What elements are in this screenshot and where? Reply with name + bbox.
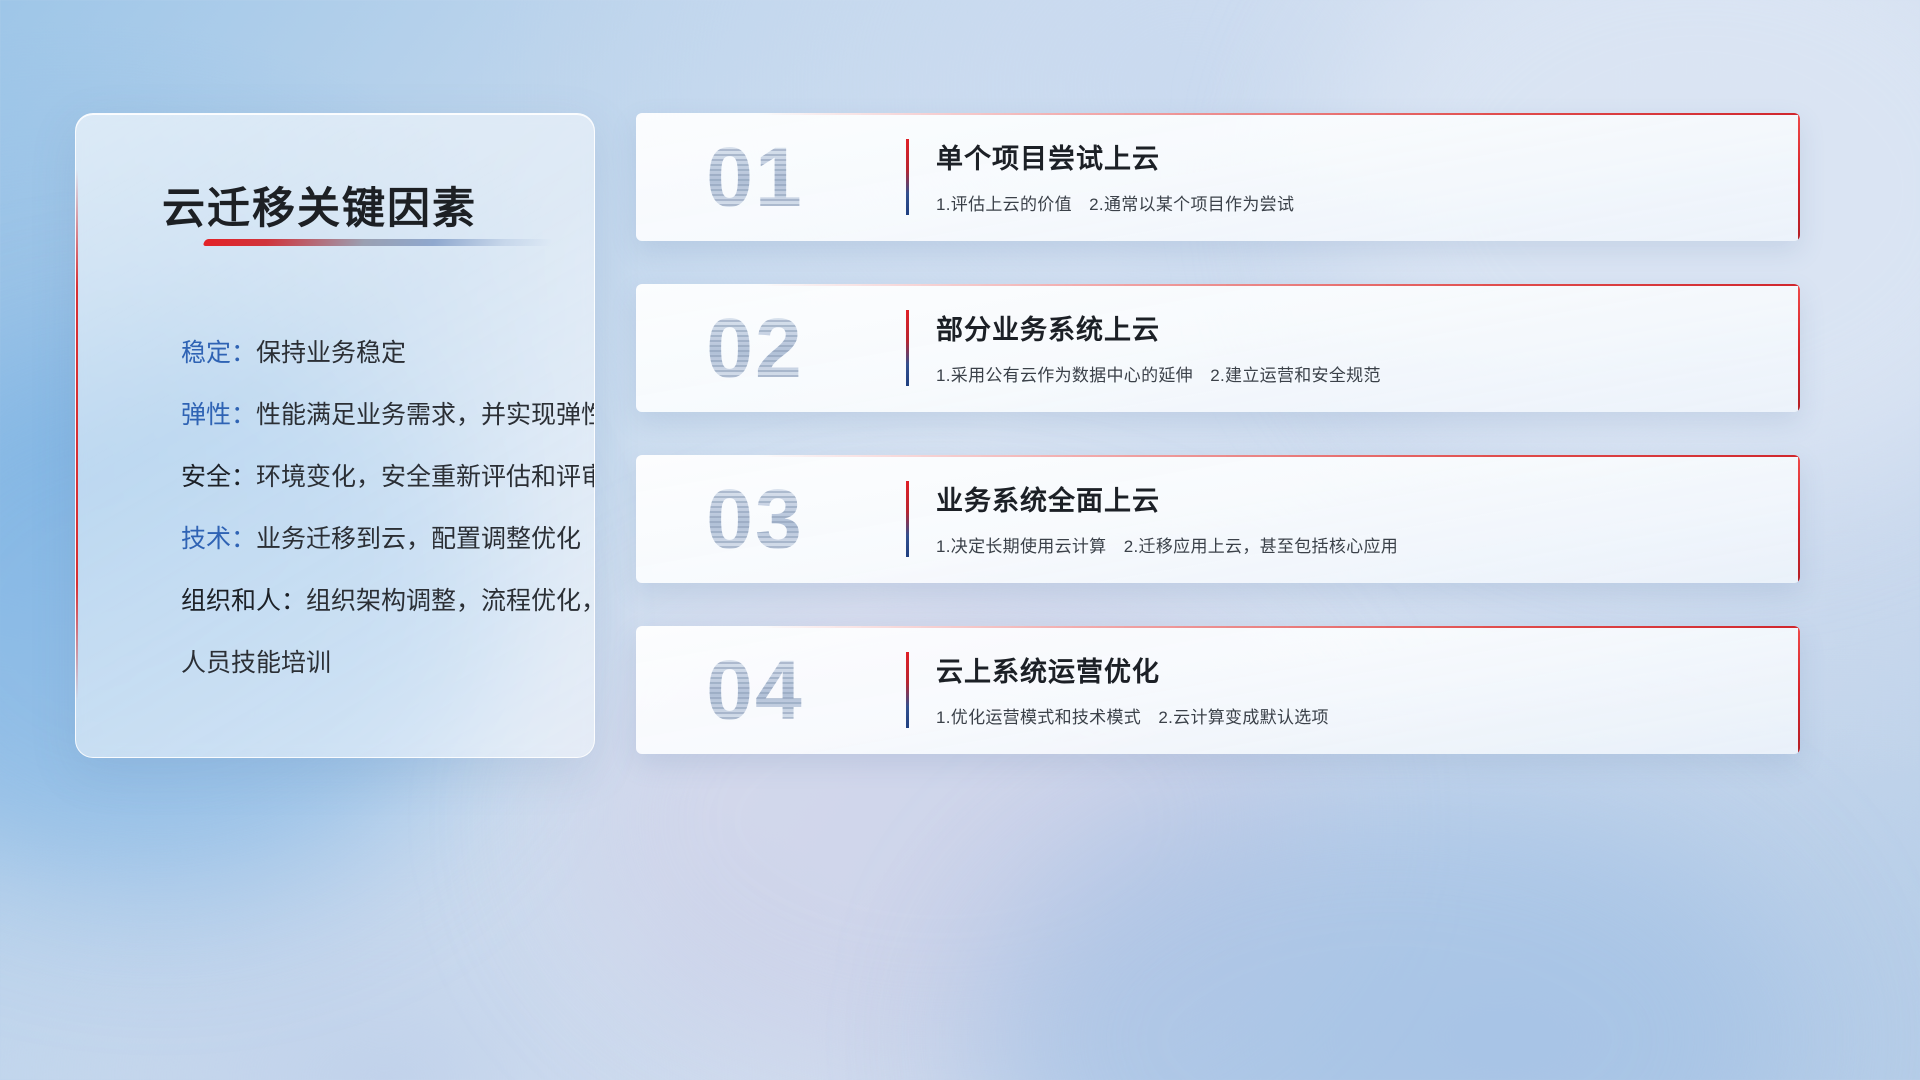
migration-stage-card[interactable]: 02部分业务系统上云1.采用公有云作为数据中心的延伸 2.建立运营和安全规范 [636,284,1800,412]
key-factor-text: 组织架构调整，流程优化， [306,587,595,615]
key-factors-panel: 云迁移关键因素 稳定：保持业务稳定弹性：性能满足业务需求，并实现弹性安全：环境变… [75,113,595,758]
stage-title: 云上系统运营优化 [936,650,1760,689]
key-factor-label: 技术： [181,525,256,553]
migration-stage-card[interactable]: 04云上系统运营优化1.优化运营模式和技术模式 2.云计算变成默认选项 [636,626,1800,754]
key-factor-label: 组织和人： [181,587,306,615]
stage-description: 1.评估上云的价值 2.通常以某个项目作为尝试 [936,190,1760,215]
stage-title: 部分业务系统上云 [936,308,1760,347]
key-factor-item: 组织和人：组织架构调整，流程优化， [181,570,560,632]
stage-title: 单个项目尝试上云 [936,137,1760,176]
stage-description: 1.优化运营模式和技术模式 2.云计算变成默认选项 [936,703,1760,728]
stage-number: 03 [670,471,840,567]
key-factor-item: 弹性：性能满足业务需求，并实现弹性 [181,384,560,446]
key-factor-text: 业务迁移到云，配置调整优化 [256,525,581,553]
stage-body: 部分业务系统上云1.采用公有云作为数据中心的延伸 2.建立运营和安全规范 [936,308,1760,386]
key-factor-text: 保持业务稳定 [256,339,406,367]
migration-stage-list: 01单个项目尝试上云1.评估上云的价值 2.通常以某个项目作为尝试02部分业务系… [636,113,1800,797]
stage-divider-rule [906,481,909,557]
key-factor-label: 安全： [181,463,256,491]
key-factor-label: 弹性： [181,401,256,429]
key-factor-text: 环境变化，安全重新评估和评审 [256,463,595,491]
migration-stage-card[interactable]: 01单个项目尝试上云1.评估上云的价值 2.通常以某个项目作为尝试 [636,113,1800,241]
stage-body: 云上系统运营优化1.优化运营模式和技术模式 2.云计算变成默认选项 [936,650,1760,728]
stage-number: 02 [670,300,840,396]
title-underline-rule [202,239,553,246]
stage-number: 01 [670,129,840,225]
key-factor-label: 稳定： [181,339,256,367]
stage-description: 1.采用公有云作为数据中心的延伸 2.建立运营和安全规范 [936,361,1760,386]
key-factor-text: 性能满足业务需求，并实现弹性 [256,401,595,429]
key-factor-item: 技术：业务迁移到云，配置调整优化 [181,508,560,570]
stage-divider-rule [906,139,909,215]
stage-description: 1.决定长期使用云计算 2.迁移应用上云，甚至包括核心应用 [936,532,1760,557]
slide-stage: 云迁移关键因素 稳定：保持业务稳定弹性：性能满足业务需求，并实现弹性安全：环境变… [0,0,1920,1080]
stage-body: 单个项目尝试上云1.评估上云的价值 2.通常以某个项目作为尝试 [936,137,1760,215]
stage-divider-rule [906,652,909,728]
migration-stage-card[interactable]: 03业务系统全面上云1.决定长期使用云计算 2.迁移应用上云，甚至包括核心应用 [636,455,1800,583]
key-factor-item: 稳定：保持业务稳定 [181,322,560,384]
page-title: 云迁移关键因素 [162,174,477,236]
stage-title: 业务系统全面上云 [936,479,1760,518]
key-factor-item: 安全：环境变化，安全重新评估和评审 [181,446,560,508]
stage-number: 04 [670,642,840,738]
stage-body: 业务系统全面上云1.决定长期使用云计算 2.迁移应用上云，甚至包括核心应用 [936,479,1760,557]
key-factor-item: 人员技能培训 [181,632,560,694]
stage-divider-rule [906,310,909,386]
key-factors-list: 稳定：保持业务稳定弹性：性能满足业务需求，并实现弹性安全：环境变化，安全重新评估… [181,322,560,694]
key-factor-text: 人员技能培训 [181,649,331,677]
